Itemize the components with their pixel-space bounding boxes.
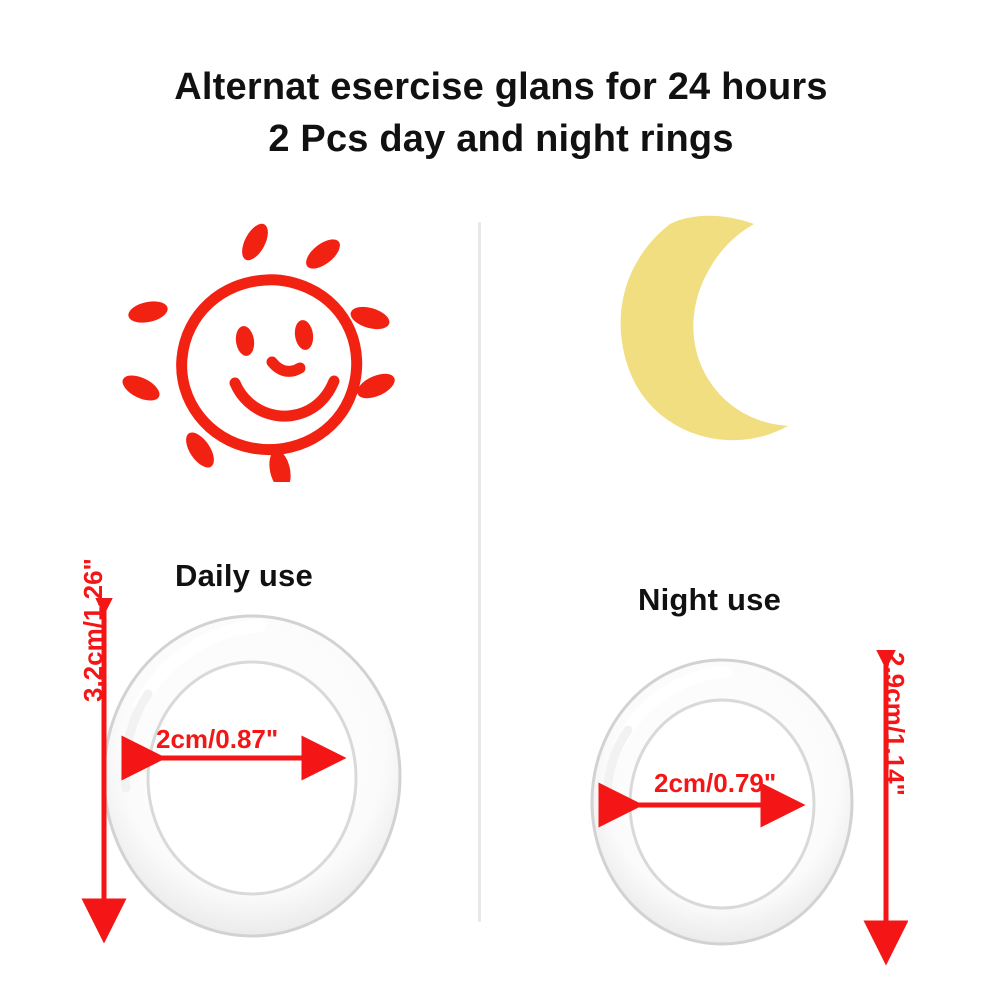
moon-icon <box>608 212 828 457</box>
daily-inner-diameter-label: 2cm/0.87" <box>156 724 278 755</box>
night-measure-arrows <box>578 650 908 970</box>
night-icon-area <box>498 190 968 490</box>
title-line-1: Alternat esercise glans for 24 hours <box>174 66 827 108</box>
title-line-2: 2 Pcs day and night rings <box>0 114 1002 166</box>
panel-night: Night use <box>498 190 968 990</box>
daily-measure-arrows <box>64 598 434 958</box>
daily-caption: Daily use <box>175 558 313 594</box>
vertical-divider <box>478 222 481 922</box>
night-outer-diameter-label: 2.9cm/1.14" <box>879 652 910 796</box>
panel-daily: Daily use <box>30 190 478 990</box>
night-caption: Night use <box>638 582 781 618</box>
sun-icon <box>108 202 398 487</box>
product-infographic: Alternat esercise glans for 24 hours 2 P… <box>0 0 1002 1002</box>
page-title: Alternat esercise glans for 24 hours 2 P… <box>0 62 1002 165</box>
daily-outer-diameter-label: 3.2cm/1.26" <box>78 558 109 702</box>
daily-icon-area <box>30 190 478 490</box>
night-inner-diameter-label: 2cm/0.79" <box>654 768 776 799</box>
